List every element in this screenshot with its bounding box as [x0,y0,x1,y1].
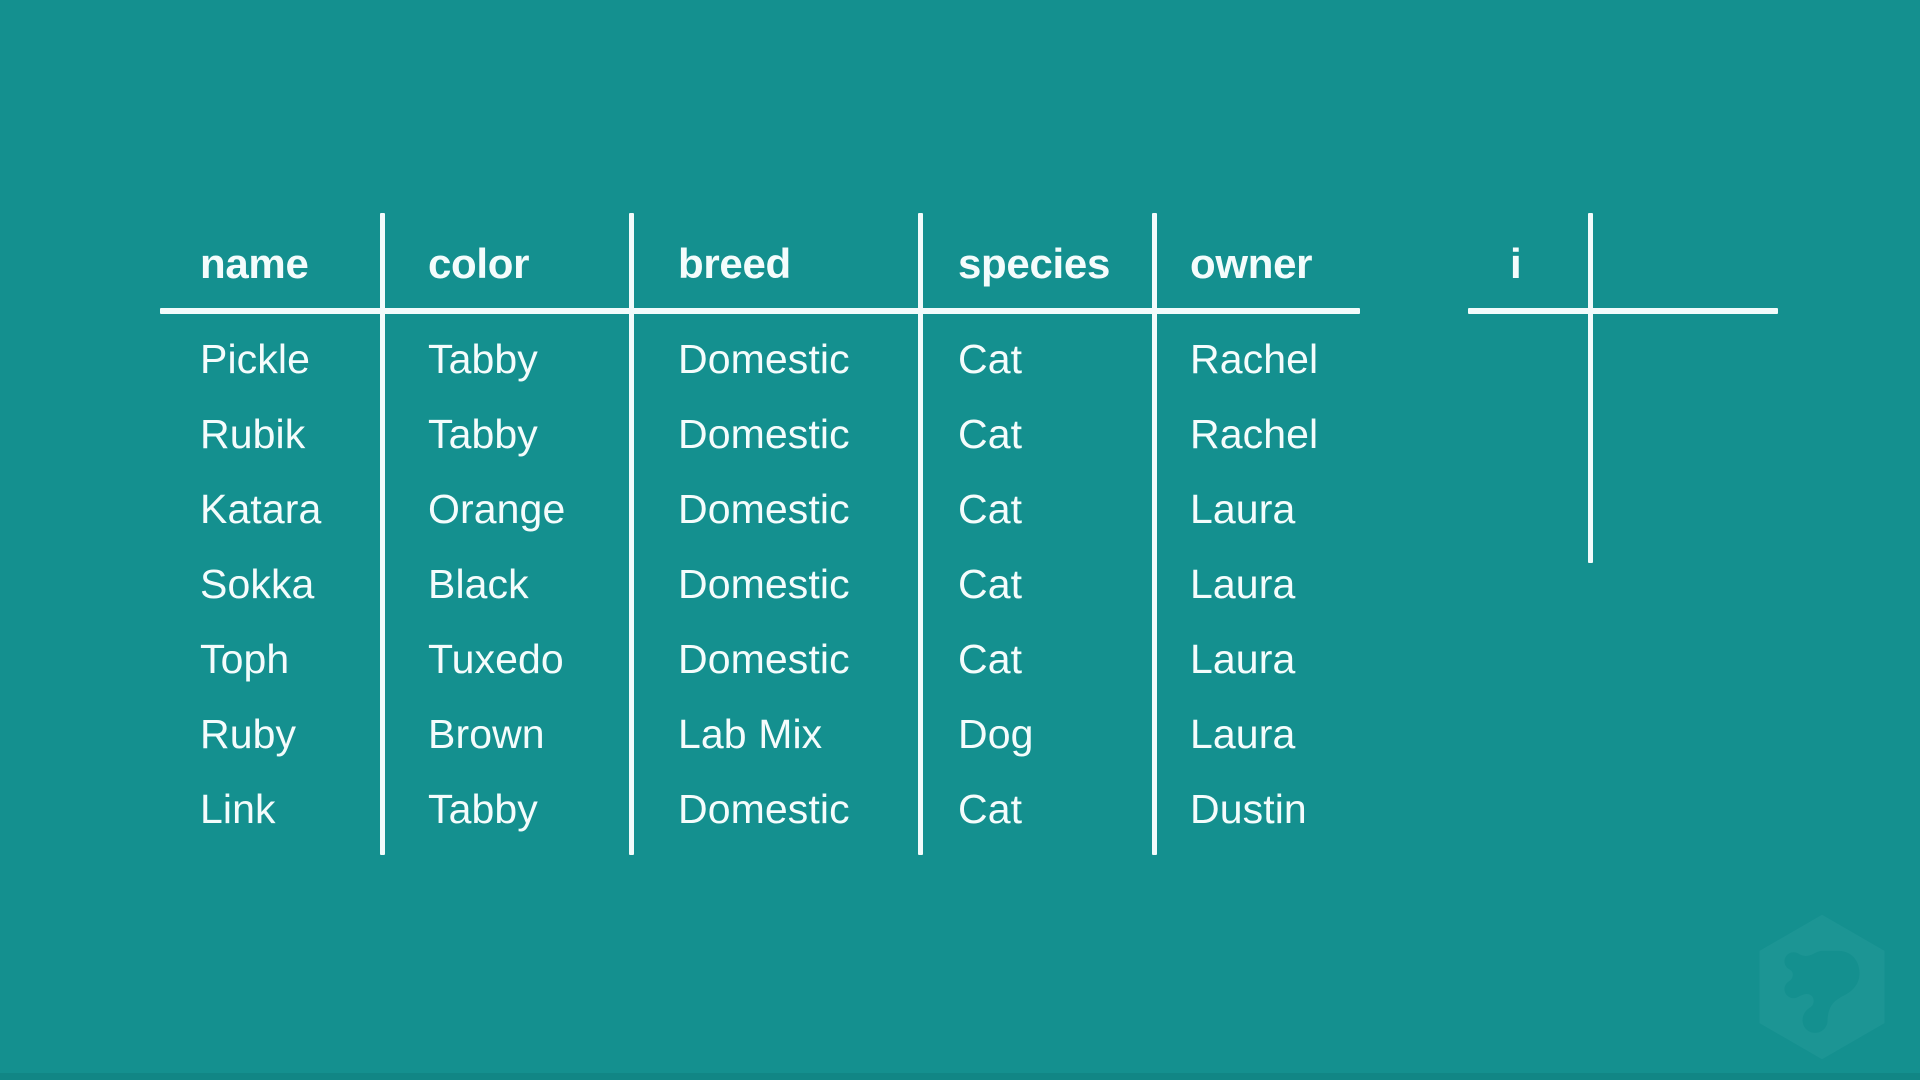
pets-table: name color breed species owner i PickleT… [0,0,1920,1080]
column-header-breed[interactable]: breed [678,240,791,288]
cell-breed[interactable]: Lab Mix [678,711,822,758]
cell-species[interactable]: Cat [958,336,1022,383]
cell-breed[interactable]: Domestic [678,561,850,608]
cell-owner[interactable]: Laura [1190,561,1295,608]
cell-color[interactable]: Tabby [428,336,538,383]
column-divider-pending [1588,213,1593,563]
cell-color[interactable]: Orange [428,486,565,533]
column-divider-color [629,213,634,855]
cell-owner[interactable]: Laura [1190,636,1295,683]
cell-color[interactable]: Black [428,561,529,608]
cell-owner[interactable]: Rachel [1190,336,1318,383]
column-header-pending[interactable]: i [1510,240,1521,288]
cell-color[interactable]: Tabby [428,786,538,833]
bottom-band [0,1073,1920,1080]
cell-color[interactable]: Tuxedo [428,636,564,683]
cell-breed[interactable]: Domestic [678,411,850,458]
cell-owner[interactable]: Laura [1190,486,1295,533]
header-underline [160,308,1360,314]
cell-name[interactable]: Pickle [200,336,310,383]
cell-species[interactable]: Dog [958,711,1034,758]
cell-name[interactable]: Katara [200,486,321,533]
column-divider-name [380,213,385,855]
cell-breed[interactable]: Domestic [678,336,850,383]
cell-name[interactable]: Sokka [200,561,314,608]
cell-name[interactable]: Toph [200,636,289,683]
cell-breed[interactable]: Domestic [678,486,850,533]
cell-color[interactable]: Brown [428,711,545,758]
cell-breed[interactable]: Domestic [678,636,850,683]
cell-owner[interactable]: Rachel [1190,411,1318,458]
column-header-name[interactable]: name [200,240,309,288]
cell-name[interactable]: Ruby [200,711,296,758]
cell-species[interactable]: Cat [958,561,1022,608]
column-divider-species [1152,213,1157,855]
cell-species[interactable]: Cat [958,786,1022,833]
column-header-color[interactable]: color [428,240,529,288]
cell-owner[interactable]: Dustin [1190,786,1307,833]
cell-species[interactable]: Cat [958,411,1022,458]
cell-name[interactable]: Link [200,786,276,833]
cell-species[interactable]: Cat [958,486,1022,533]
column-header-owner[interactable]: owner [1190,240,1312,288]
cell-species[interactable]: Cat [958,636,1022,683]
cell-color[interactable]: Tabby [428,411,538,458]
cell-name[interactable]: Rubik [200,411,305,458]
slide-canvas: name color breed species owner i PickleT… [0,0,1920,1080]
cell-breed[interactable]: Domestic [678,786,850,833]
column-header-species[interactable]: species [958,240,1110,288]
header-underline-pending-column [1468,308,1778,314]
cell-owner[interactable]: Laura [1190,711,1295,758]
column-divider-breed [918,213,923,855]
